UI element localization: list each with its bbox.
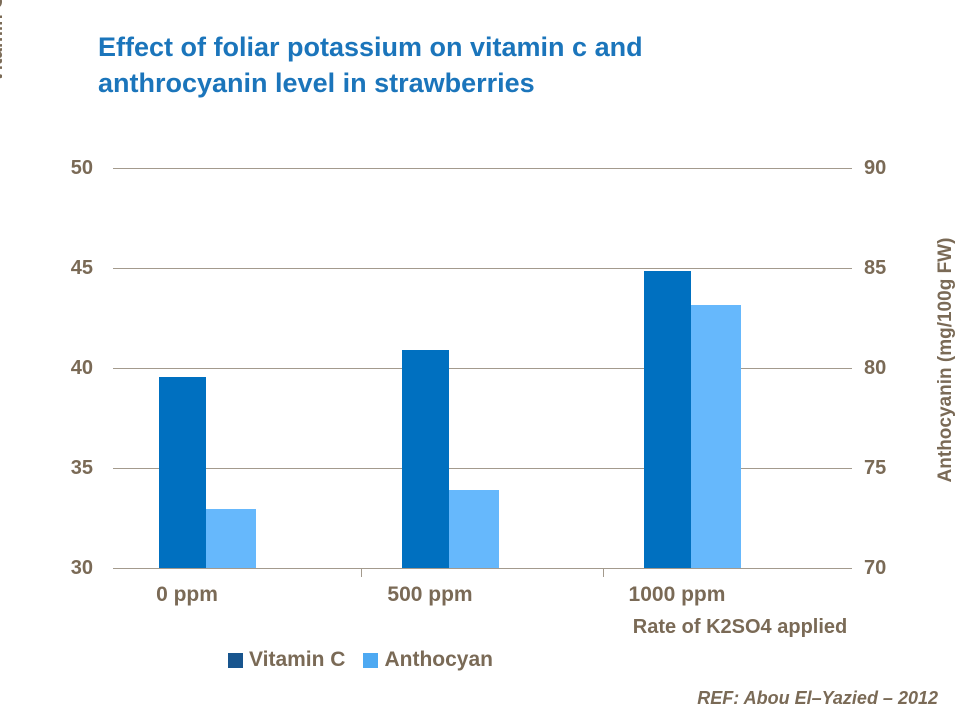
right-axis-title: Anthocyanin (mg/100g FW): [935, 150, 957, 570]
tick-mark-left-45: [113, 268, 120, 269]
page-title-line-1: Effect of foliar potassium on vitamin c …: [98, 30, 798, 66]
x-axis-line: [120, 568, 845, 569]
page-title: Effect of foliar potassium on vitamin c …: [98, 30, 798, 101]
bar-anthocyan-500ppm[interactable]: [449, 490, 499, 568]
tick-mark-right-80: [845, 368, 852, 369]
right-tick-90: 90: [864, 157, 924, 180]
category-divider-1: [361, 568, 362, 577]
legend-swatch-icon-anthocyan: [363, 653, 378, 668]
chart-legend: Vitamin C Anthocyan: [228, 648, 493, 672]
tick-mark-left-40: [113, 368, 120, 369]
legend-item-anthocyan[interactable]: Anthocyan: [363, 648, 493, 672]
category-label-1000ppm: 1000 ppm: [608, 583, 746, 607]
x-axis-title: Rate of K2SO4 applied: [530, 616, 950, 639]
bar-anthocyan-0ppm[interactable]: [206, 509, 256, 568]
left-tick-40: 40: [33, 357, 93, 380]
tick-mark-left-35: [113, 468, 120, 469]
bar-vitamin-c-0ppm[interactable]: [159, 377, 206, 568]
category-label-500ppm: 500 ppm: [370, 583, 490, 607]
reference-citation: REF: Abou El–Yazied – 2012: [0, 688, 938, 709]
tick-mark-right-90: [845, 168, 852, 169]
left-tick-50: 50: [33, 157, 93, 180]
plot-area: [120, 168, 845, 568]
left-tick-45: 45: [33, 257, 93, 280]
left-tick-30: 30: [33, 557, 93, 580]
tick-mark-right-70: [845, 568, 852, 569]
left-axis-title: Vitamin C (mg/100g FW): [0, 0, 8, 174]
legend-label-anthocyan: Anthocyan: [384, 648, 493, 672]
tick-mark-left-30: [113, 568, 120, 569]
bar-vitamin-c-1000ppm[interactable]: [644, 271, 691, 568]
gridline-45: [120, 268, 845, 269]
right-tick-75: 75: [864, 457, 924, 480]
category-divider-2: [603, 568, 604, 577]
legend-swatch-icon-vitamin-c: [228, 653, 243, 668]
slide-canvas: Effect of foliar potassium on vitamin c …: [0, 0, 960, 720]
gridline-50: [120, 168, 845, 169]
bar-vitamin-c-500ppm[interactable]: [402, 350, 449, 568]
legend-label-vitamin-c: Vitamin C: [249, 648, 345, 672]
bar-anthocyan-1000ppm[interactable]: [691, 305, 741, 568]
right-tick-85: 85: [864, 257, 924, 280]
legend-item-vitamin-c[interactable]: Vitamin C: [228, 648, 345, 672]
tick-mark-left-50: [113, 168, 120, 169]
page-title-line-2: anthrocyanin level in strawberries: [98, 66, 798, 102]
right-tick-70: 70: [864, 557, 924, 580]
category-label-0ppm: 0 ppm: [127, 583, 247, 607]
tick-mark-right-75: [845, 468, 852, 469]
tick-mark-right-85: [845, 268, 852, 269]
right-tick-80: 80: [864, 357, 924, 380]
left-tick-35: 35: [33, 457, 93, 480]
